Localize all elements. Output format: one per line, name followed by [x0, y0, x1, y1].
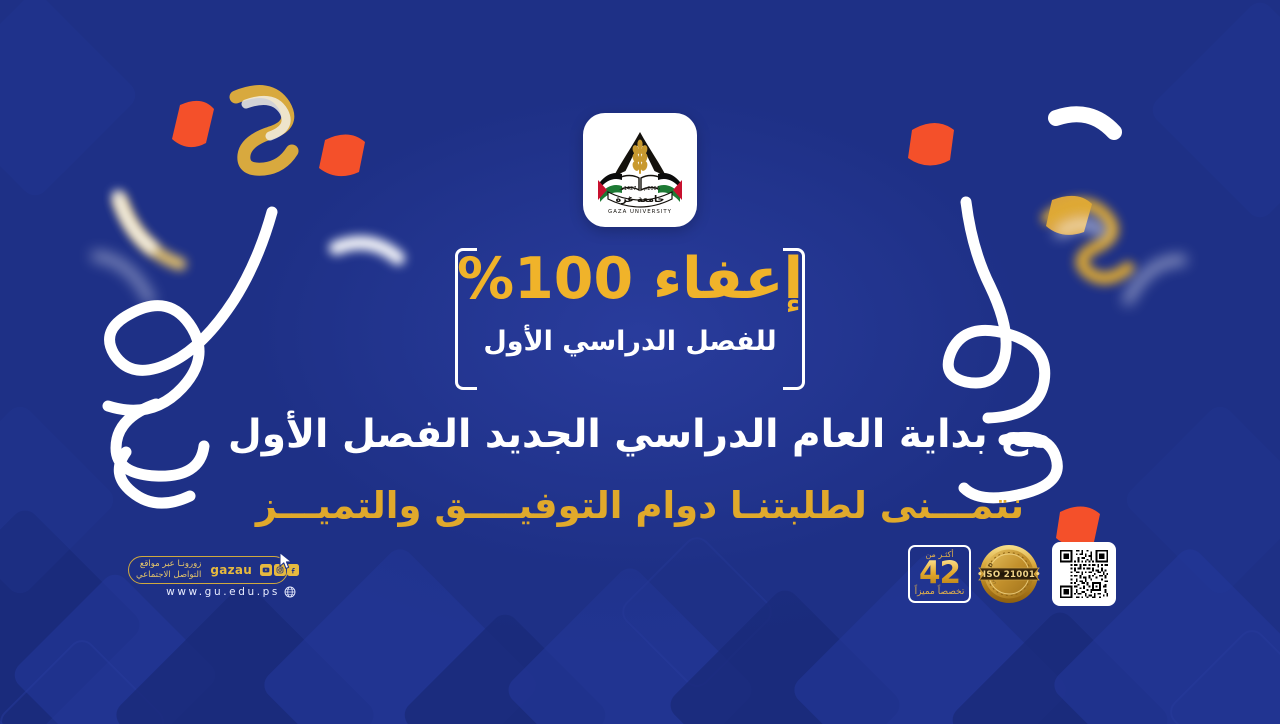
message-line-2: نتمـــنى لطلبتنـا دوام التوفيــــق والتم…	[0, 484, 1280, 527]
logo-arabic-name: جامعة غزة	[616, 194, 665, 205]
university-logo-card: 1427هـ 2006م جامعة غزة GAZA UNIVERSITY	[583, 113, 697, 227]
globe-icon	[284, 586, 296, 598]
promotional-banner: 1427هـ 2006م جامعة غزة GAZA UNIVERSITY إ…	[0, 0, 1280, 724]
logo-english-name: GAZA UNIVERSITY	[608, 209, 672, 215]
offer-subtext: للفصل الدراسي الأول	[455, 326, 805, 357]
gaza-university-logo: 1427هـ 2006م جامعة غزة GAZA UNIVERSITY	[590, 120, 690, 220]
iso-label: •ISO 21001•	[978, 570, 1040, 580]
social-pill[interactable]: زورونـا عبر مواقع التواصل الاجتماعي gaza…	[128, 556, 288, 584]
logo-hijri-year: 1427هـ	[619, 186, 637, 192]
youtube-icon[interactable]	[260, 564, 272, 576]
cursor-pointer-icon	[277, 551, 295, 571]
specializations-number: 42	[919, 559, 960, 588]
specializations-bottom-text: تخصصاً مميزاً	[915, 588, 965, 597]
offer-block: إعفاء 100% للفصل الدراسي الأول	[455, 248, 805, 390]
offer-headline: إعفاء 100%	[455, 250, 805, 310]
social-media-block: زورونـا عبر مواقع التواصل الاجتماعي gaza…	[126, 553, 301, 607]
website-url: www.gu.edu.ps	[166, 586, 280, 598]
message-line-1: مع بداية العام الدراسي الجديد الفصل الأو…	[0, 412, 1280, 457]
website-row[interactable]: www.gu.edu.ps	[128, 586, 296, 598]
iso-certification-seal: CERTIFIED QUALITY MANAGEMENT •ISO 21001•	[978, 543, 1040, 605]
social-invite-text: زورونـا عبر مواقع التواصل الاجتماعي	[136, 559, 201, 580]
logo-gregorian-year: 2006م	[644, 186, 660, 192]
specializations-badge: أكثـر من 42 تخصصاً مميزاً	[908, 545, 971, 603]
qr-code-card[interactable]	[1052, 542, 1116, 606]
qr-code	[1058, 548, 1110, 600]
social-handle: gazau	[210, 563, 252, 577]
